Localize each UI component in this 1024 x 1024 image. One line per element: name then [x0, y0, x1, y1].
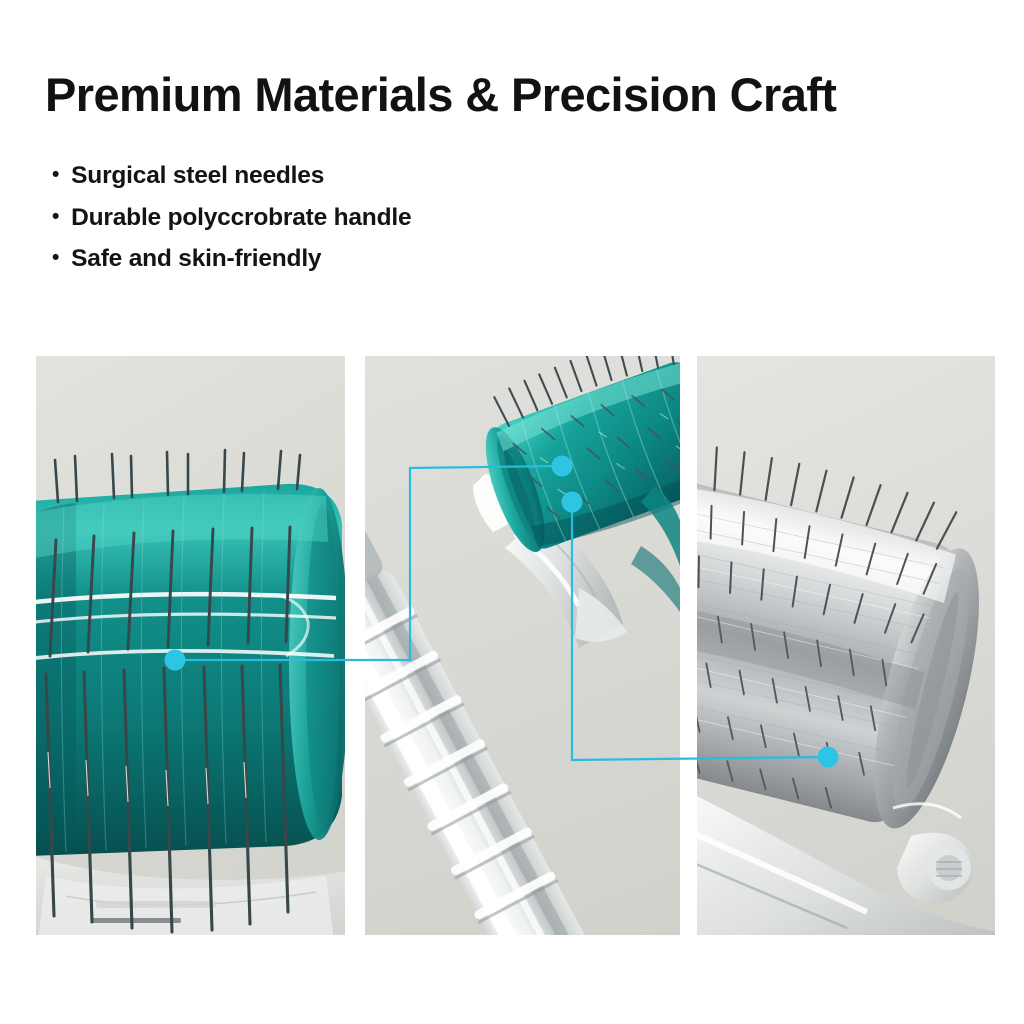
page-title: Premium Materials & Precision Craft	[45, 70, 1005, 120]
teal-roller-illustration	[36, 356, 345, 935]
feature-bullet-list: • Surgical steel needles • Durable polyc…	[52, 164, 752, 289]
bullet-text: Surgical steel needles	[71, 164, 324, 189]
product-photo-panel-steel-roller	[697, 356, 995, 935]
bullet-text: Durable polyccrobrate handle	[71, 206, 411, 231]
handle-joint-callout-dot[interactable]	[562, 492, 583, 513]
bullet-marker-icon: •	[52, 164, 59, 186]
full-roller-illustration	[365, 356, 680, 935]
bullet-marker-icon: •	[52, 206, 59, 228]
infographic-canvas: Premium Materials & Precision Craft • Su…	[0, 0, 1024, 1024]
roller-head-callout-dot[interactable]	[552, 456, 573, 477]
list-item: • Safe and skin-friendly	[52, 247, 752, 272]
list-item: • Durable polyccrobrate handle	[52, 206, 752, 231]
steel-needle-callout-dot[interactable]	[818, 747, 839, 768]
list-item: • Surgical steel needles	[52, 164, 752, 189]
product-photo-panel-teal-roller	[36, 356, 345, 935]
needle-row-callout-dot[interactable]	[165, 650, 186, 671]
bullet-text: Safe and skin-friendly	[71, 247, 321, 272]
steel-roller-illustration	[697, 356, 995, 935]
bullet-marker-icon: •	[52, 247, 59, 269]
product-photo-panel-full-roller	[365, 356, 680, 935]
